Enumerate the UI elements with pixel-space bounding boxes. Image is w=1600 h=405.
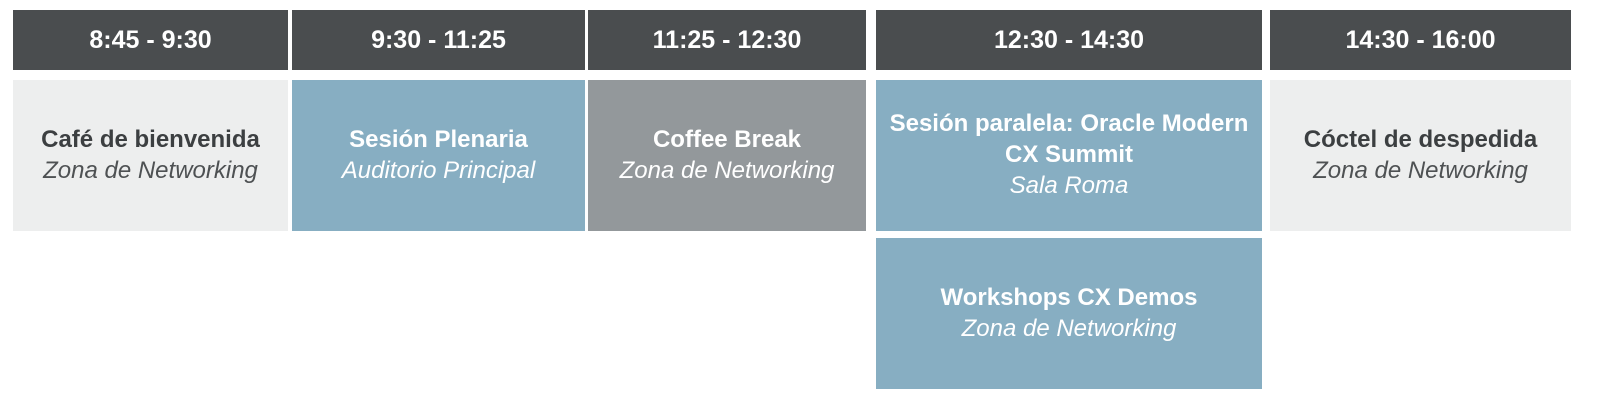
session-block[interactable]: Sesión Plenaria Auditorio Principal [292,80,585,231]
session-title: Coffee Break [653,125,801,156]
session-block[interactable]: Cóctel de despedida Zona de Networking [1270,80,1571,231]
time-slot-body: Sesión Plenaria Auditorio Principal [292,80,585,405]
time-slot-header: 11:25 - 12:30 [588,10,866,70]
session-title: Workshops CX Demos [941,283,1198,314]
time-slot-body: Café de bienvenida Zona de Networking [13,80,288,405]
session-title: Sesión Plenaria [349,125,528,156]
session-block[interactable]: Coffee Break Zona de Networking [588,80,866,231]
session-block[interactable]: Café de bienvenida Zona de Networking [13,80,288,231]
session-title: Sesión paralela: Oracle Modern CX Summit [882,109,1256,170]
time-slot-body: Coffee Break Zona de Networking [588,80,866,405]
time-slot-header: 9:30 - 11:25 [292,10,585,70]
time-slot-header: 12:30 - 14:30 [876,10,1262,70]
time-slot-header: 8:45 - 9:30 [13,10,288,70]
session-title: Café de bienvenida [41,125,260,156]
session-title: Cóctel de despedida [1304,125,1537,156]
time-slot-body: Sesión paralela: Oracle Modern CX Summit… [876,80,1262,405]
time-slot-column: 11:25 - 12:30 Coffee Break Zona de Netwo… [588,0,866,405]
session-location: Sala Roma [1010,171,1129,202]
session-block[interactable]: Sesión paralela: Oracle Modern CX Summit… [876,80,1262,231]
session-location: Zona de Networking [620,156,835,187]
agenda-board: 8:45 - 9:30 Café de bienvenida Zona de N… [0,0,1600,405]
time-slot-column: 8:45 - 9:30 Café de bienvenida Zona de N… [13,0,288,405]
time-slot-header: 14:30 - 16:00 [1270,10,1571,70]
time-slot-column: 14:30 - 16:00 Cóctel de despedida Zona d… [1270,0,1571,405]
session-location: Auditorio Principal [342,156,535,187]
session-location: Zona de Networking [43,156,258,187]
time-slot-body: Cóctel de despedida Zona de Networking [1270,80,1571,405]
time-slot-column: 9:30 - 11:25 Sesión Plenaria Auditorio P… [292,0,585,405]
session-block[interactable]: Workshops CX Demos Zona de Networking [876,238,1262,389]
session-location: Zona de Networking [1313,156,1528,187]
time-slot-column: 12:30 - 14:30 Sesión paralela: Oracle Mo… [876,0,1262,405]
session-location: Zona de Networking [962,314,1177,345]
